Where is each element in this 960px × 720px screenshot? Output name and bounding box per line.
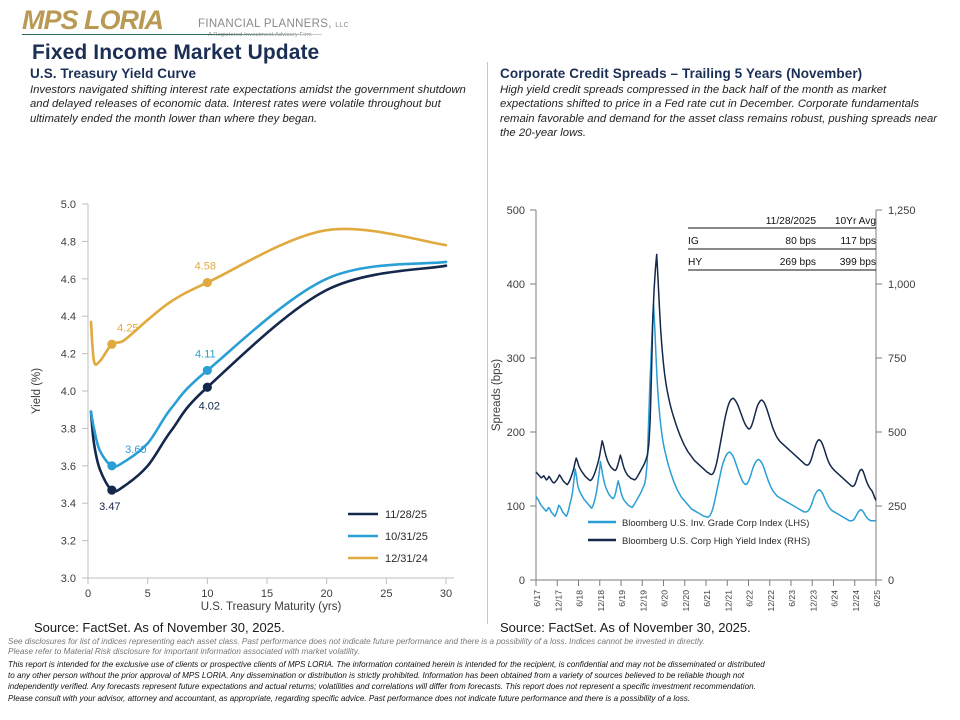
right-y-tick-label: 250 xyxy=(888,501,906,513)
y-tick-label: 4.2 xyxy=(61,349,76,361)
y-axis-title: Yield (%) xyxy=(31,368,43,414)
x-tick-label: 25 xyxy=(380,588,392,600)
left-y-tick-label: 400 xyxy=(507,279,525,291)
date-tick-label: 6/20 xyxy=(660,590,670,607)
disclaimer-dark: This report is intended for the exclusiv… xyxy=(8,659,952,704)
x-axis-title: U.S. Treasury Maturity (yrs) xyxy=(201,601,342,613)
right-axis-ticks: 02505007501,0001,250 xyxy=(876,205,916,587)
y-tick-label: 3.4 xyxy=(61,498,76,510)
y-tick-label: 4.8 xyxy=(61,236,76,248)
yield-curve-line xyxy=(91,262,446,467)
x-tick-label: 15 xyxy=(261,588,273,600)
left-y-tick-label: 200 xyxy=(507,427,525,439)
left-axis-ticks: 0100200300400500 xyxy=(507,205,536,587)
data-point-marker xyxy=(107,461,116,470)
yield-curve-line xyxy=(91,229,446,365)
table-row-label: IG xyxy=(688,236,699,247)
x-tick-label: 5 xyxy=(145,588,151,600)
data-label: 4.25 xyxy=(117,322,138,334)
y-tick-label: 3.0 xyxy=(61,573,76,585)
data-label: 4.02 xyxy=(199,400,220,412)
left-panel-commentary: Investors navigated shifting interest ra… xyxy=(30,83,480,126)
table-row-label: HY xyxy=(688,257,702,268)
data-label: 3.60 xyxy=(125,444,146,456)
date-axis-ticks: 6/1712/176/1812/186/1912/196/2012/206/21… xyxy=(532,580,882,612)
credit-spreads-legend[interactable]: Bloomberg U.S. Inv. Grade Corp Index (LH… xyxy=(588,517,810,546)
yield-curve-svg: 3.03.23.43.63.84.04.24.44.64.85.0 051015… xyxy=(18,186,470,616)
legend-label[interactable]: 12/31/24 xyxy=(385,553,428,565)
yield-curve-line xyxy=(91,266,446,492)
data-label: 3.47 xyxy=(99,501,120,513)
credit-spreads-svg: 0100200300400500 02505007501,0001,250 6/… xyxy=(488,190,958,618)
table-cell-average: 399 bps xyxy=(840,257,876,268)
page-title: Fixed Income Market Update xyxy=(32,41,319,65)
y-tick-label: 4.4 xyxy=(61,311,76,323)
yield-curve-chart: 3.03.23.43.63.84.04.24.44.64.85.0 051015… xyxy=(18,186,470,616)
logo-secondary-label: FINANCIAL PLANNERS, xyxy=(198,18,332,30)
right-panel-commentary: High yield credit spreads compressed in … xyxy=(500,83,950,141)
x-tick-label: 0 xyxy=(85,588,91,600)
left-axis-title: Spreads (bps) xyxy=(491,359,503,431)
disclaimer-line: independently verified. Any forecasts re… xyxy=(8,681,952,692)
date-tick-label: 12/22 xyxy=(766,590,776,612)
right-y-tick-label: 0 xyxy=(888,575,894,587)
data-point-marker xyxy=(203,366,212,375)
table-header-average: 10Yr Avg xyxy=(835,216,876,227)
disclaimer-line: Please refer to Material Risk disclosure… xyxy=(8,647,952,657)
data-label: 4.11 xyxy=(195,348,216,360)
credit-spreads-series xyxy=(536,254,876,520)
table-cell-current: 269 bps xyxy=(780,257,816,268)
right-y-tick-label: 750 xyxy=(888,353,906,365)
date-tick-label: 12/23 xyxy=(808,590,818,612)
y-tick-label: 3.8 xyxy=(61,423,76,435)
table-cell-average: 117 bps xyxy=(841,236,877,247)
legend-label[interactable]: Bloomberg U.S. Inv. Grade Corp Index (LH… xyxy=(622,517,809,528)
y-tick-label: 4.6 xyxy=(61,274,76,286)
left-y-tick-label: 0 xyxy=(519,575,525,587)
date-tick-label: 12/24 xyxy=(851,590,861,612)
x-tick-label: 20 xyxy=(321,588,333,600)
left-y-tick-label: 500 xyxy=(507,205,525,217)
disclaimer-grey: See disclosures for list of indices repr… xyxy=(8,637,952,658)
right-panel: Corporate Credit Spreads – Trailing 5 Ye… xyxy=(500,66,950,141)
left-panel-title: U.S. Treasury Yield Curve xyxy=(30,66,480,81)
logo-secondary-text: FINANCIAL PLANNERS, LLC xyxy=(198,18,349,30)
right-y-tick-label: 500 xyxy=(888,427,906,439)
company-logo: MPS LORIA FINANCIAL PLANNERS, LLC A Regi… xyxy=(22,6,322,46)
spread-series-line xyxy=(536,304,876,521)
report-page: MPS LORIA FINANCIAL PLANNERS, LLC A Regi… xyxy=(0,0,960,720)
y-tick-label: 5.0 xyxy=(61,199,76,211)
y-tick-label: 4.0 xyxy=(61,386,76,398)
date-tick-label: 6/17 xyxy=(532,590,542,607)
data-point-marker xyxy=(107,340,116,349)
date-tick-label: 6/24 xyxy=(830,590,840,607)
data-label: 4.58 xyxy=(195,261,216,273)
right-source-note: Source: FactSet. As of November 30, 2025… xyxy=(500,620,751,635)
disclaimer-line: to any other person without the prior ap… xyxy=(8,670,952,681)
y-axis-ticks: 3.03.23.43.63.84.04.24.44.64.85.0 xyxy=(61,199,88,585)
right-y-tick-label: 1,000 xyxy=(888,279,916,291)
date-tick-label: 12/20 xyxy=(681,590,691,612)
legend-label[interactable]: 10/31/25 xyxy=(385,531,428,543)
date-tick-label: 6/23 xyxy=(787,590,797,607)
x-axis-ticks: 051015202530 xyxy=(85,578,452,600)
yield-curve-data-labels: 3.474.023.604.114.254.58 xyxy=(99,261,220,514)
data-point-marker xyxy=(203,383,212,392)
table-header-current: 11/28/2025 xyxy=(766,216,817,227)
disclaimer-line: Please consult with your advisor, attorn… xyxy=(8,693,952,704)
spread-summary-table: 11/28/202510Yr AvgIG80 bps117 bpsHY269 b… xyxy=(688,216,876,270)
x-tick-label: 10 xyxy=(201,588,213,600)
disclaimer-line: See disclosures for list of indices repr… xyxy=(8,637,952,647)
date-tick-label: 6/21 xyxy=(702,590,712,607)
logo-llc-label: LLC xyxy=(335,22,349,29)
x-tick-label: 30 xyxy=(440,588,452,600)
y-tick-label: 3.6 xyxy=(61,461,76,473)
y-tick-label: 3.2 xyxy=(61,536,76,548)
date-tick-label: 12/17 xyxy=(553,590,563,612)
right-panel-title: Corporate Credit Spreads – Trailing 5 Ye… xyxy=(500,66,950,81)
yield-curve-legend[interactable]: 11/28/2510/31/2512/31/24 xyxy=(348,509,428,565)
left-source-note: Source: FactSet. As of November 30, 2025… xyxy=(34,620,285,635)
date-tick-label: 12/21 xyxy=(723,590,733,612)
data-point-marker xyxy=(203,278,212,287)
credit-spreads-chart: 0100200300400500 02505007501,0001,250 6/… xyxy=(488,190,958,618)
logo-underline-rule xyxy=(22,34,322,35)
left-y-tick-label: 300 xyxy=(507,353,525,365)
right-y-tick-label: 1,250 xyxy=(888,205,916,217)
date-tick-label: 6/22 xyxy=(745,590,755,607)
left-y-tick-label: 100 xyxy=(507,501,525,513)
date-tick-label: 12/19 xyxy=(638,590,648,612)
disclaimer-line: This report is intended for the exclusiv… xyxy=(8,659,952,670)
spread-series-line xyxy=(536,254,876,500)
legend-label[interactable]: Bloomberg U.S. Corp High Yield Index (RH… xyxy=(622,535,810,546)
date-tick-label: 12/18 xyxy=(596,590,606,612)
left-panel: U.S. Treasury Yield Curve Investors navi… xyxy=(30,66,480,126)
date-tick-label: 6/19 xyxy=(617,590,627,607)
legend-label[interactable]: 11/28/25 xyxy=(385,509,427,521)
data-point-marker xyxy=(107,486,116,495)
date-tick-label: 6/25 xyxy=(872,590,882,607)
table-cell-current: 80 bps xyxy=(785,236,816,247)
date-tick-label: 6/18 xyxy=(575,590,585,607)
